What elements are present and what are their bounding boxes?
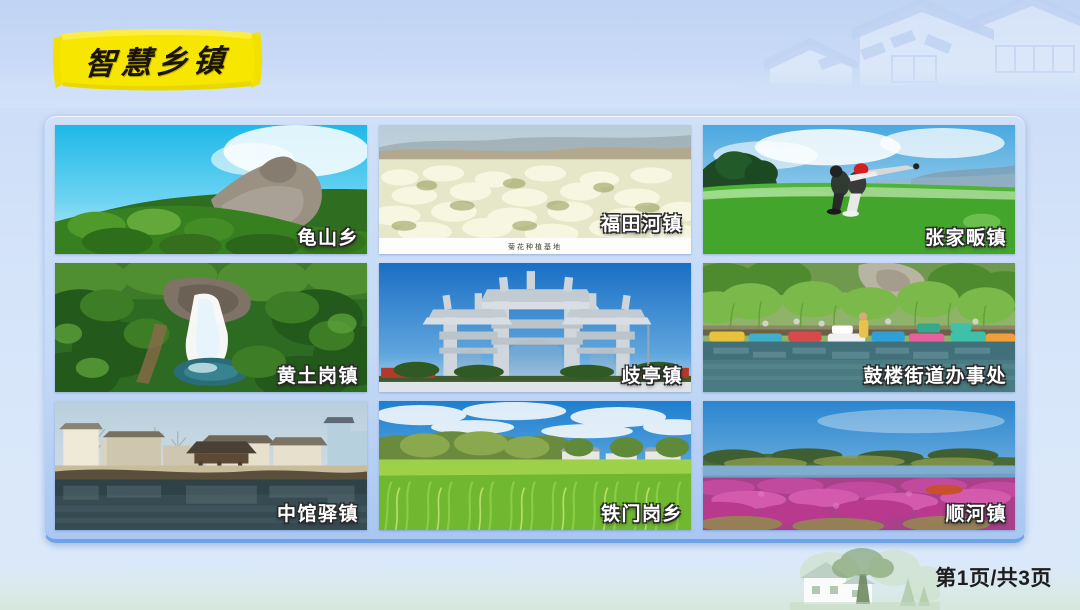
town-tile-huangtuigangzhen[interactable]: 黄土岗镇 — [55, 263, 367, 392]
town-tile-label: 中馆驿镇 — [277, 499, 359, 526]
app-logo[interactable]: 智慧乡镇 — [46, 24, 268, 94]
logo-text: 智慧乡镇 — [43, 21, 271, 96]
town-tile-qitingzhen[interactable]: 歧亭镇 — [379, 263, 691, 392]
town-tile-futianhezhen[interactable]: 菊花种植基地 福田河镇 — [379, 125, 691, 254]
town-tile-zhangjiafanzhen[interactable]: 张家畈镇 — [703, 125, 1015, 254]
town-tile-shunhezhen[interactable]: 顺河镇 — [703, 401, 1015, 530]
town-tile-tiemengangxiang[interactable]: 铁门岗乡 — [379, 401, 691, 530]
town-tile-label: 张家畈镇 — [925, 223, 1007, 250]
photo-caption: 菊花种植基地 — [508, 242, 562, 252]
town-tile-gulou-jiedao-banshichu[interactable]: 鼓楼街道办事处 — [703, 263, 1015, 392]
town-tile-guishanxiang[interactable]: 龟山乡 — [55, 125, 367, 254]
towns-panel: 龟山乡 — [44, 115, 1026, 543]
town-tile-label: 顺河镇 — [945, 499, 1007, 526]
town-tile-label: 黄土岗镇 — [277, 361, 359, 388]
town-tile-label: 歧亭镇 — [621, 361, 683, 388]
town-tile-zhongguanyizhen[interactable]: 中馆驿镇 — [55, 401, 367, 530]
pagination-label: 第1页/共3页 — [935, 562, 1052, 592]
town-tile-label: 鼓楼街道办事处 — [863, 361, 1007, 388]
town-tile-label: 铁门岗乡 — [601, 499, 683, 526]
towns-grid: 龟山乡 — [55, 125, 1015, 530]
app-root: 智慧乡镇 — [0, 0, 1080, 610]
footer: 第1页/共3页 — [0, 544, 1080, 610]
watercolor-house-tree-icon — [790, 544, 940, 610]
town-tile-label: 福田河镇 — [601, 209, 683, 236]
town-tile-label: 龟山乡 — [297, 223, 359, 250]
